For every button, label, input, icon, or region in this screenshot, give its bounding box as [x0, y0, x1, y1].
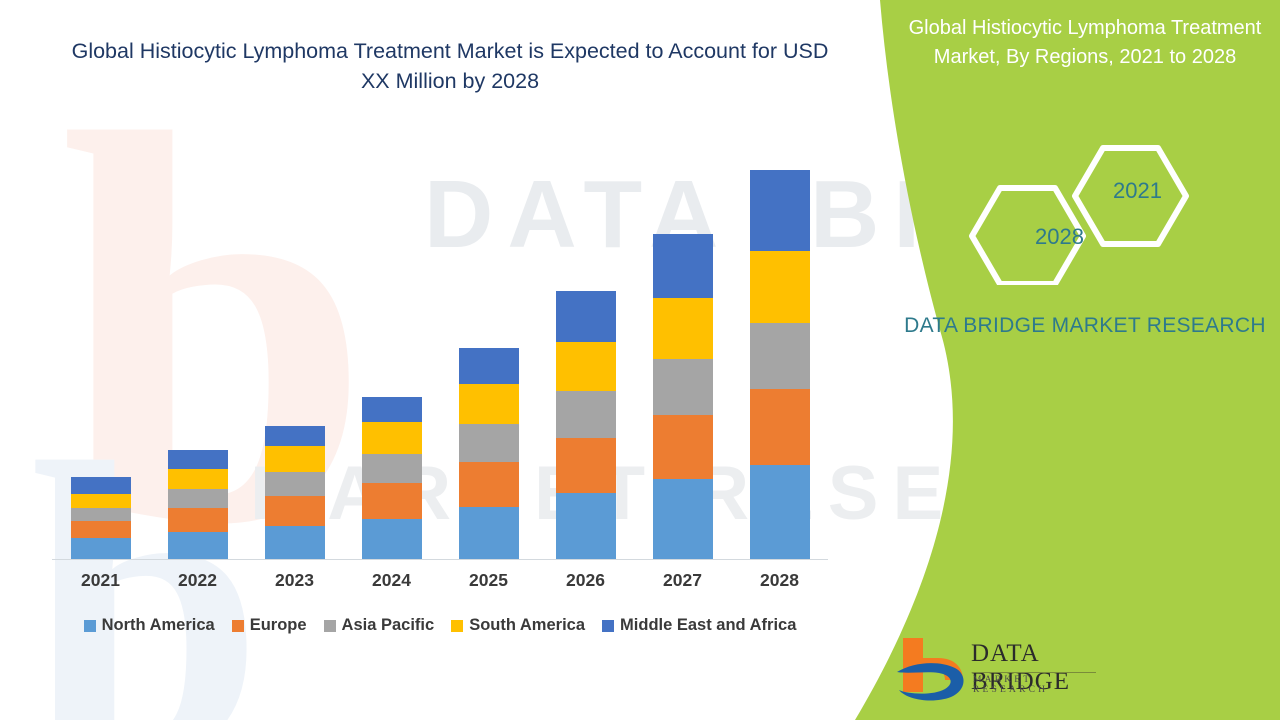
x-tick-2026: 2026 — [537, 570, 634, 591]
infographic-slide: b b DATA BRIDGE MARKET RESEARCH Global H… — [0, 0, 1280, 720]
legend-item[interactable]: South America — [451, 616, 585, 635]
bar-segment[interactable] — [556, 493, 616, 559]
chart-title: Global Histiocytic Lymphoma Treatment Ma… — [60, 36, 840, 96]
stacked-bar-2022[interactable] — [168, 450, 228, 559]
bar-segment[interactable] — [265, 446, 325, 472]
bar-segment[interactable] — [265, 496, 325, 525]
data-bridge-logo: DATA BRIDGE MARKET RESEARCH — [893, 632, 1103, 704]
panel-brand-text: DATA BRIDGE MARKET RESEARCH — [900, 310, 1270, 342]
right-green-panel: Global Histiocytic Lymphoma Treatment Ma… — [820, 0, 1280, 720]
bar-segment[interactable] — [459, 507, 519, 559]
bar-segment[interactable] — [653, 415, 713, 479]
bar-segment[interactable] — [459, 348, 519, 385]
legend-label: Asia Pacific — [342, 616, 435, 635]
x-axis-line — [52, 559, 828, 560]
bar-series-container — [52, 170, 828, 559]
x-tick-2023: 2023 — [246, 570, 343, 591]
chart-legend: North AmericaEuropeAsia PacificSouth Ame… — [52, 616, 828, 635]
bar-segment[interactable] — [362, 483, 422, 519]
bar-segment[interactable] — [750, 170, 810, 252]
legend-swatch-icon — [84, 620, 96, 632]
stacked-bar-2025[interactable] — [459, 348, 519, 559]
bar-segment[interactable] — [750, 323, 810, 390]
hex-label-2021: 2021 — [1113, 178, 1162, 204]
bar-segment[interactable] — [71, 538, 131, 559]
bar-group — [52, 170, 149, 559]
bar-segment[interactable] — [653, 359, 713, 415]
bar-segment[interactable] — [362, 422, 422, 454]
bar-segment[interactable] — [362, 519, 422, 559]
legend-item[interactable]: North America — [84, 616, 215, 635]
bar-segment[interactable] — [459, 462, 519, 507]
bar-group — [149, 170, 246, 559]
x-tick-2024: 2024 — [343, 570, 440, 591]
x-axis-tick-labels: 20212022202320242025202620272028 — [52, 570, 828, 591]
stacked-bar-chart — [52, 170, 828, 560]
bar-segment[interactable] — [653, 479, 713, 559]
hex-label-2028: 2028 — [1035, 224, 1084, 250]
bar-segment[interactable] — [71, 508, 131, 522]
hexagon-badges: 2021 2028 — [950, 140, 1250, 285]
legend-swatch-icon — [324, 620, 336, 632]
x-tick-2025: 2025 — [440, 570, 537, 591]
bar-segment[interactable] — [168, 489, 228, 508]
legend-item[interactable]: Europe — [232, 616, 307, 635]
stacked-bar-2021[interactable] — [71, 477, 131, 559]
bar-group — [440, 170, 537, 559]
x-tick-2027: 2027 — [634, 570, 731, 591]
bar-segment[interactable] — [71, 521, 131, 538]
legend-swatch-icon — [602, 620, 614, 632]
panel-title: Global Histiocytic Lymphoma Treatment Ma… — [900, 14, 1270, 71]
bar-segment[interactable] — [750, 389, 810, 464]
stacked-bar-2023[interactable] — [265, 426, 325, 559]
hexagon-outlines-icon — [950, 140, 1250, 285]
bar-segment[interactable] — [362, 454, 422, 483]
bar-segment[interactable] — [71, 477, 131, 495]
logo-tagline: MARKET RESEARCH — [973, 675, 1103, 695]
bar-segment[interactable] — [459, 424, 519, 462]
bar-group — [343, 170, 440, 559]
x-tick-2021: 2021 — [52, 570, 149, 591]
bar-group — [731, 170, 828, 559]
bar-group — [246, 170, 343, 559]
bar-segment[interactable] — [653, 298, 713, 359]
logo-b-mark-icon — [893, 632, 971, 704]
legend-swatch-icon — [451, 620, 463, 632]
bar-segment[interactable] — [265, 426, 325, 447]
bar-segment[interactable] — [556, 342, 616, 391]
legend-label: South America — [469, 616, 585, 635]
bar-segment[interactable] — [362, 397, 422, 422]
bar-segment[interactable] — [168, 469, 228, 489]
stacked-bar-2024[interactable] — [362, 397, 422, 559]
bar-segment[interactable] — [168, 532, 228, 559]
stacked-bar-2027[interactable] — [653, 234, 713, 559]
bar-segment[interactable] — [750, 465, 810, 559]
x-tick-2028: 2028 — [731, 570, 828, 591]
bar-segment[interactable] — [168, 508, 228, 532]
legend-label: Europe — [250, 616, 307, 635]
bar-group — [634, 170, 731, 559]
bar-segment[interactable] — [653, 234, 713, 298]
logo-divider — [972, 672, 1096, 673]
legend-item[interactable]: Asia Pacific — [324, 616, 435, 635]
bar-segment[interactable] — [168, 450, 228, 469]
legend-item[interactable]: Middle East and Africa — [602, 616, 796, 635]
green-panel-shape — [820, 0, 1280, 720]
legend-label: North America — [102, 616, 215, 635]
x-tick-2022: 2022 — [149, 570, 246, 591]
bar-segment[interactable] — [71, 494, 131, 508]
bar-segment[interactable] — [556, 291, 616, 343]
bar-segment[interactable] — [459, 384, 519, 424]
bar-segment[interactable] — [265, 472, 325, 496]
bar-segment[interactable] — [556, 438, 616, 492]
bar-group — [537, 170, 634, 559]
bar-segment[interactable] — [265, 526, 325, 559]
legend-label: Middle East and Africa — [620, 616, 796, 635]
legend-swatch-icon — [232, 620, 244, 632]
bar-segment[interactable] — [556, 391, 616, 438]
bar-segment[interactable] — [750, 251, 810, 322]
stacked-bar-2026[interactable] — [556, 291, 616, 559]
stacked-bar-2028[interactable] — [750, 170, 810, 559]
